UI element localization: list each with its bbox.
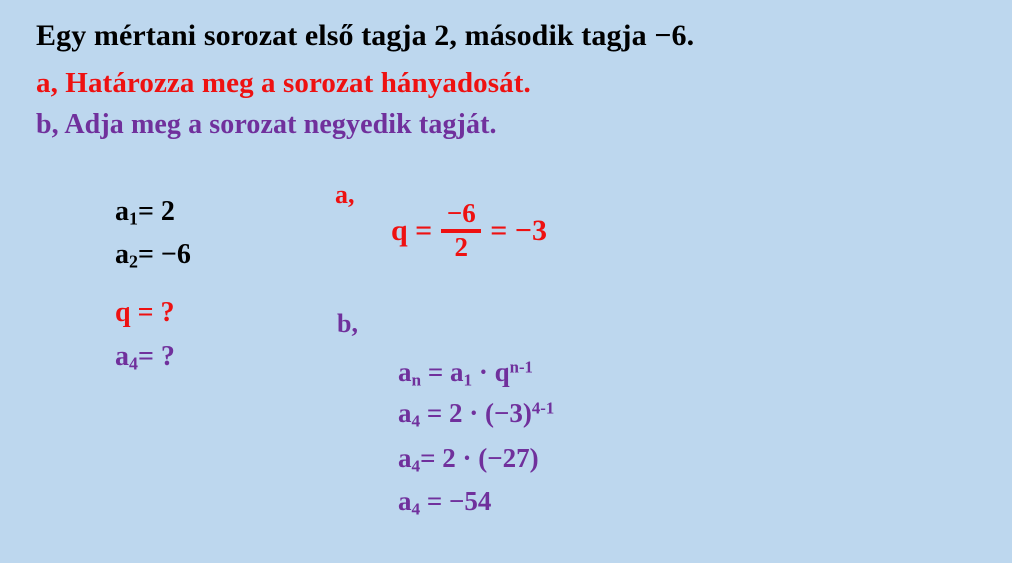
solution-b-general-formula: an = a1 · qn-1 (398, 357, 533, 390)
solution-b-substituted: a4 = 2 · (−3)4-1 (398, 398, 554, 431)
given-a1-subscript: 1 (129, 209, 138, 229)
part-a-marker: a, (335, 180, 355, 210)
problem-statement-line: Egy mértani sorozat első tagja 2, másodi… (36, 19, 694, 53)
sub-a4-expression: = 2 · (−3) (420, 398, 532, 428)
task-a-statement: a, Határozza meg a sorozat hányadosát. (36, 67, 531, 100)
solution-b-simplified: a4= 2 · (−27) (398, 443, 539, 476)
given-a2-subscript: 2 (129, 252, 138, 272)
unknown-q: q = ? (115, 297, 175, 329)
given-a2: a2= −6 (115, 239, 191, 273)
slide-canvas: Egy mértani sorozat első tagja 2, másodi… (0, 0, 1012, 563)
simp-a4-expression: = 2 · (−27) (420, 443, 539, 473)
solution-b-final-answer: a4 = −54 (398, 486, 491, 519)
final-a4-base: a (398, 486, 412, 516)
given-a2-base: a (115, 239, 129, 270)
given-a1: a1= 2 (115, 196, 175, 230)
solution-a-result: = −3 (485, 214, 552, 248)
given-a1-base: a (115, 196, 129, 227)
simp-a4-base: a (398, 443, 412, 473)
sub-a4-exponent: 4-1 (532, 398, 554, 417)
part-b-marker: b, (337, 309, 358, 339)
sub-a4-subscript: 4 (412, 411, 421, 430)
formula-a1-subscript: 1 (464, 370, 473, 389)
solution-a-equation: q = −6 2 = −3 (386, 200, 552, 261)
task-b-statement: b, Adja meg a sorozat negyedik tagját. (36, 109, 497, 141)
unknown-a4-subscript: 4 (129, 354, 138, 374)
sub-a4-base: a (398, 398, 412, 428)
solution-a-lhs: q = (386, 214, 437, 248)
formula-an-subscript: n (412, 370, 422, 389)
final-a4-subscript: 4 (412, 499, 421, 518)
formula-q-exponent: n-1 (510, 357, 533, 376)
unknown-a4-value: = ? (138, 341, 175, 372)
unknown-a4-base: a (115, 341, 129, 372)
formula-an-base: a (398, 357, 412, 387)
given-a2-value: = −6 (138, 239, 191, 270)
given-a1-value: = 2 (138, 196, 175, 227)
unknown-a4: a4= ? (115, 341, 175, 375)
formula-times-q: · q (472, 357, 510, 387)
quotient-fraction: −6 2 (441, 200, 481, 261)
final-a4-value: = −54 (420, 486, 491, 516)
formula-equals-a1: = a (421, 357, 463, 387)
fraction-denominator: 2 (451, 234, 473, 262)
fraction-numerator: −6 (443, 200, 480, 228)
simp-a4-subscript: 4 (412, 456, 421, 475)
